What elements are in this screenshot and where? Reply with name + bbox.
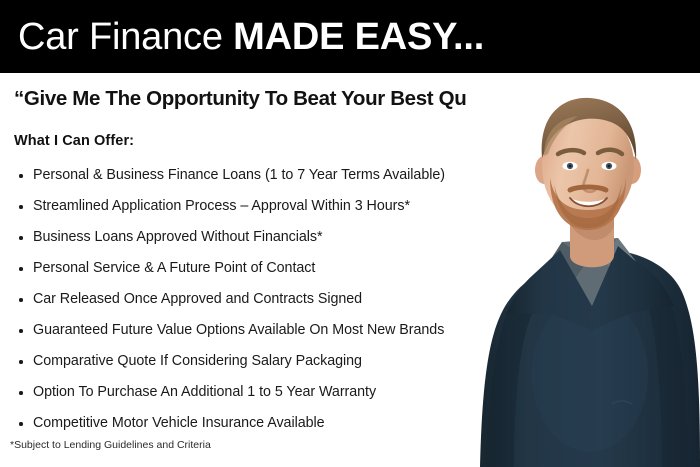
list-item: Streamlined Application Process – Approv…: [14, 191, 514, 222]
list-item: Car Released Once Approved and Contracts…: [14, 284, 514, 315]
list-item-label: Comparative Quote If Considering Salary …: [33, 353, 362, 369]
list-item: Guaranteed Future Value Options Availabl…: [14, 315, 514, 346]
bullet-dot-icon: [19, 329, 23, 333]
list-item-label: Option To Purchase An Additional 1 to 5 …: [33, 384, 376, 400]
offer-bullet-list: Personal & Business Finance Loans (1 to …: [14, 160, 514, 439]
bullet-dot-icon: [19, 205, 23, 209]
list-item-label: Personal & Business Finance Loans (1 to …: [33, 167, 445, 183]
bullet-dot-icon: [19, 236, 23, 240]
bullet-dot-icon: [19, 298, 23, 302]
pupil-right: [608, 165, 611, 168]
bullet-dot-icon: [19, 422, 23, 426]
bullet-dot-icon: [19, 391, 23, 395]
header-bar: Car Finance MADE EASY...: [0, 0, 700, 73]
list-item-label: Business Loans Approved Without Financia…: [33, 229, 323, 245]
list-item-label: Car Released Once Approved and Contracts…: [33, 291, 362, 307]
bullet-dot-icon: [19, 267, 23, 271]
bullet-dot-icon: [19, 360, 23, 364]
list-item-label: Guaranteed Future Value Options Availabl…: [33, 322, 444, 338]
page-title: Car Finance MADE EASY...: [18, 14, 484, 60]
pupil-left: [569, 165, 572, 168]
page-title-light: Car Finance: [18, 16, 233, 58]
offer-heading: What I Can Offer:: [14, 132, 134, 150]
list-item-label: Competitive Motor Vehicle Insurance Avai…: [33, 415, 325, 431]
list-item: Comparative Quote If Considering Salary …: [14, 346, 514, 377]
list-item: Option To Purchase An Additional 1 to 5 …: [14, 377, 514, 408]
bullet-dot-icon: [19, 174, 23, 178]
list-item: Business Loans Approved Without Financia…: [14, 222, 514, 253]
list-item-label: Personal Service & A Future Point of Con…: [33, 260, 315, 276]
list-item-label: Streamlined Application Process – Approv…: [33, 198, 410, 214]
page-title-bold: MADE EASY...: [233, 16, 484, 58]
poster-canvas: Car Finance MADE EASY... “Give Me The Op…: [0, 0, 700, 467]
list-item: Personal & Business Finance Loans (1 to …: [14, 160, 514, 191]
list-item: Personal Service & A Future Point of Con…: [14, 253, 514, 284]
list-item: Competitive Motor Vehicle Insurance Avai…: [14, 408, 514, 439]
footnote-disclaimer: *Subject to Lending Guidelines and Crite…: [10, 438, 211, 452]
